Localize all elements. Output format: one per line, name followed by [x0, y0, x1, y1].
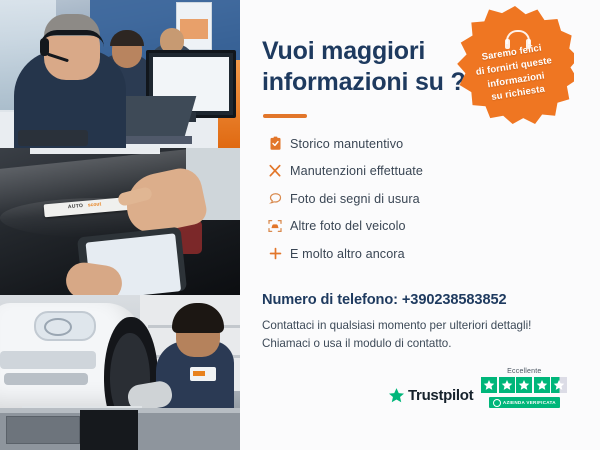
phone-number-heading[interactable]: Numero di telefono: +390238583852: [262, 292, 562, 308]
phone-subtext-line-2: Chiamaci o usa il modulo di contatto.: [262, 335, 562, 353]
star-5: [551, 377, 567, 393]
star-2: [499, 377, 515, 393]
feature-item-service-history: Storico manutentivo: [260, 130, 500, 158]
desk-tablet: [18, 130, 88, 146]
plus-icon: [260, 245, 290, 262]
trustpilot-rating-label: Eccellente: [507, 368, 541, 375]
call-center-photo: [0, 0, 240, 148]
car-headlight: [34, 311, 96, 341]
speech-bubble-icon: [260, 191, 290, 206]
feature-label: Foto dei segni di usura: [290, 192, 420, 206]
star-4: [534, 377, 550, 393]
trustpilot-widget[interactable]: Trustpilot Eccellente AZIENDA VERIFICATA: [388, 368, 588, 408]
feature-label: Manutenzioni effettuate: [290, 164, 423, 178]
title-underline: [263, 114, 307, 118]
clipboard-check-icon: [260, 136, 290, 151]
star-1: [481, 377, 497, 393]
wrench-cross-icon: [260, 163, 290, 179]
feature-label: E molto altro ancora: [290, 247, 405, 261]
content-panel: Vuoi maggiori informazioni su ? Saremo f…: [240, 0, 600, 450]
feature-item-maintenance-done: Manutenzioni effettuate: [260, 158, 500, 186]
phone-subtext: Contattaci in qualsiasi momento per ulte…: [262, 317, 562, 353]
tool-cabinet: [6, 416, 80, 444]
phone-block: Numero di telefono: +390238583852 Contat…: [262, 292, 562, 353]
feature-item-more: E molto altro ancora: [260, 240, 500, 268]
feature-label: Altre foto del veicolo: [290, 219, 406, 233]
verified-check-icon: [493, 399, 501, 407]
headset-icon: [506, 30, 530, 44]
feature-item-wear-photos: Foto dei segni di usura: [260, 185, 500, 213]
photo-column: AUTOscout: [0, 0, 240, 450]
star-3: [516, 377, 532, 393]
trustpilot-stars: [481, 377, 567, 393]
trustpilot-name: Trustpilot: [408, 387, 473, 404]
trustpilot-logo: Trustpilot: [388, 387, 473, 408]
mechanic-wheel-photo: [0, 295, 240, 450]
callout-badge: Saremo felici di fornirti queste informa…: [456, 6, 574, 124]
car-lower-grille: [4, 373, 88, 385]
verified-label: AZIENDA VERIFICATA: [503, 400, 556, 405]
ruler-brand-text: AUTO: [68, 203, 84, 210]
phone-subtext-line-1: Contattaci in qualsiasi momento per ulte…: [262, 317, 562, 335]
car-frame-icon: [260, 218, 290, 234]
trustpilot-star-icon: [388, 387, 405, 404]
verified-business-badge: AZIENDA VERIFICATA: [489, 397, 560, 408]
headset-band: [40, 30, 104, 47]
advertisement-banner: AUTOscout Vuoi: [0, 0, 600, 450]
page-title: Vuoi maggiori informazioni su ?: [262, 36, 472, 97]
feature-item-vehicle-photos: Altre foto del veicolo: [260, 213, 500, 241]
mechanic-uniform-badge: [190, 367, 216, 381]
floor-shadow: [80, 410, 138, 450]
ruler-brand-accent: scout: [88, 201, 102, 208]
trustpilot-rating-group: Eccellente AZIENDA VERIFICATA: [481, 368, 567, 408]
vehicle-inspection-photo: AUTOscout: [0, 148, 240, 295]
feature-list: Storico manutentivo Manutenzioni effettu…: [260, 130, 500, 268]
feature-label: Storico manutentivo: [290, 137, 403, 151]
car-grille: [0, 351, 96, 369]
